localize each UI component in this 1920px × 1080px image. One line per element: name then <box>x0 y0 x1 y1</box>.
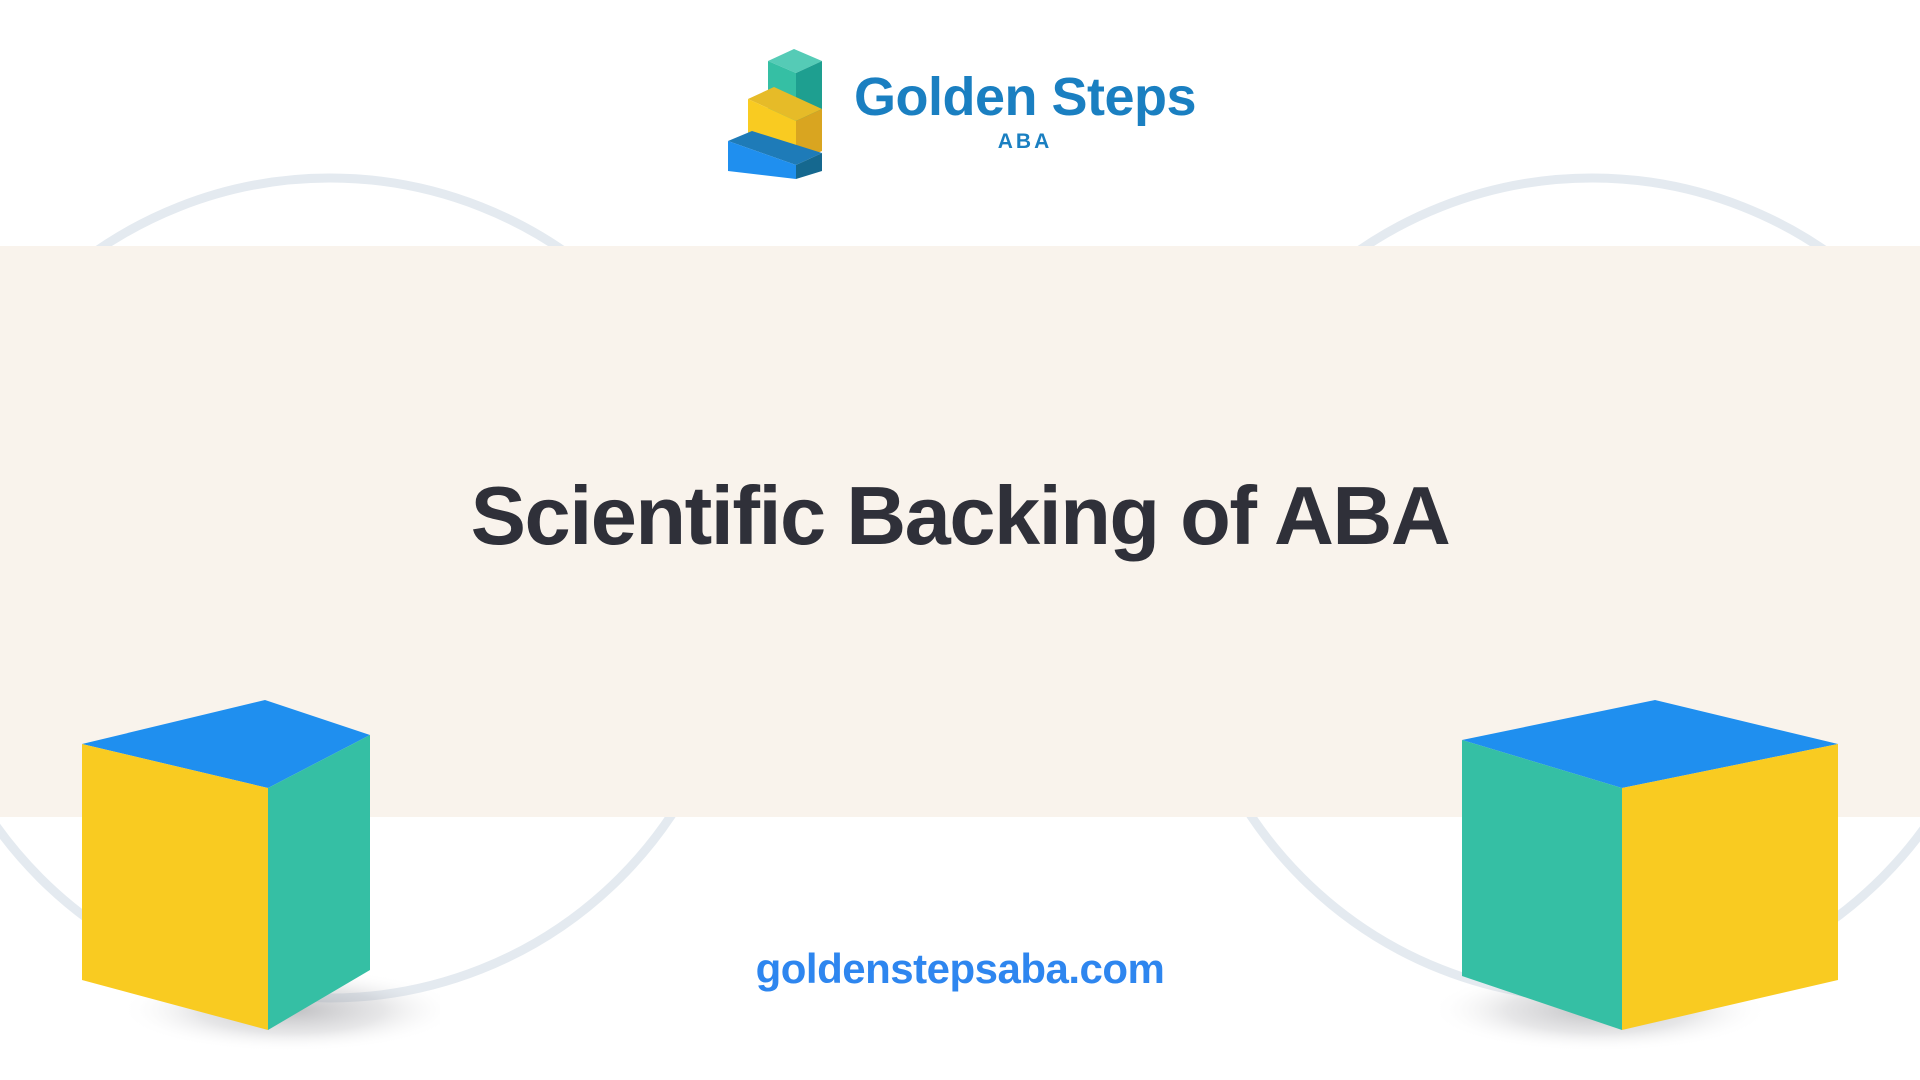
decorative-cube-left <box>40 680 440 1080</box>
decorative-cube-right <box>1440 680 1880 1080</box>
golden-steps-staircase-logo <box>724 39 836 179</box>
page-title-container: Scientific Backing of ABA <box>0 470 1920 563</box>
social-card-canvas: Golden Steps ABA Scientific Backing of A… <box>0 0 1920 1080</box>
logo-wordmark-group: Golden Steps ABA <box>854 66 1196 152</box>
logo-subtitle-text: ABA <box>998 131 1053 152</box>
footer-url-container: goldenstepsaba.com <box>0 945 1920 993</box>
logo-wordmark-text: Golden Steps <box>854 70 1196 124</box>
page-title: Scientific Backing of ABA <box>180 470 1740 563</box>
website-url-link[interactable]: goldenstepsaba.com <box>756 945 1165 992</box>
brand-logo[interactable]: Golden Steps ABA <box>0 34 1920 184</box>
